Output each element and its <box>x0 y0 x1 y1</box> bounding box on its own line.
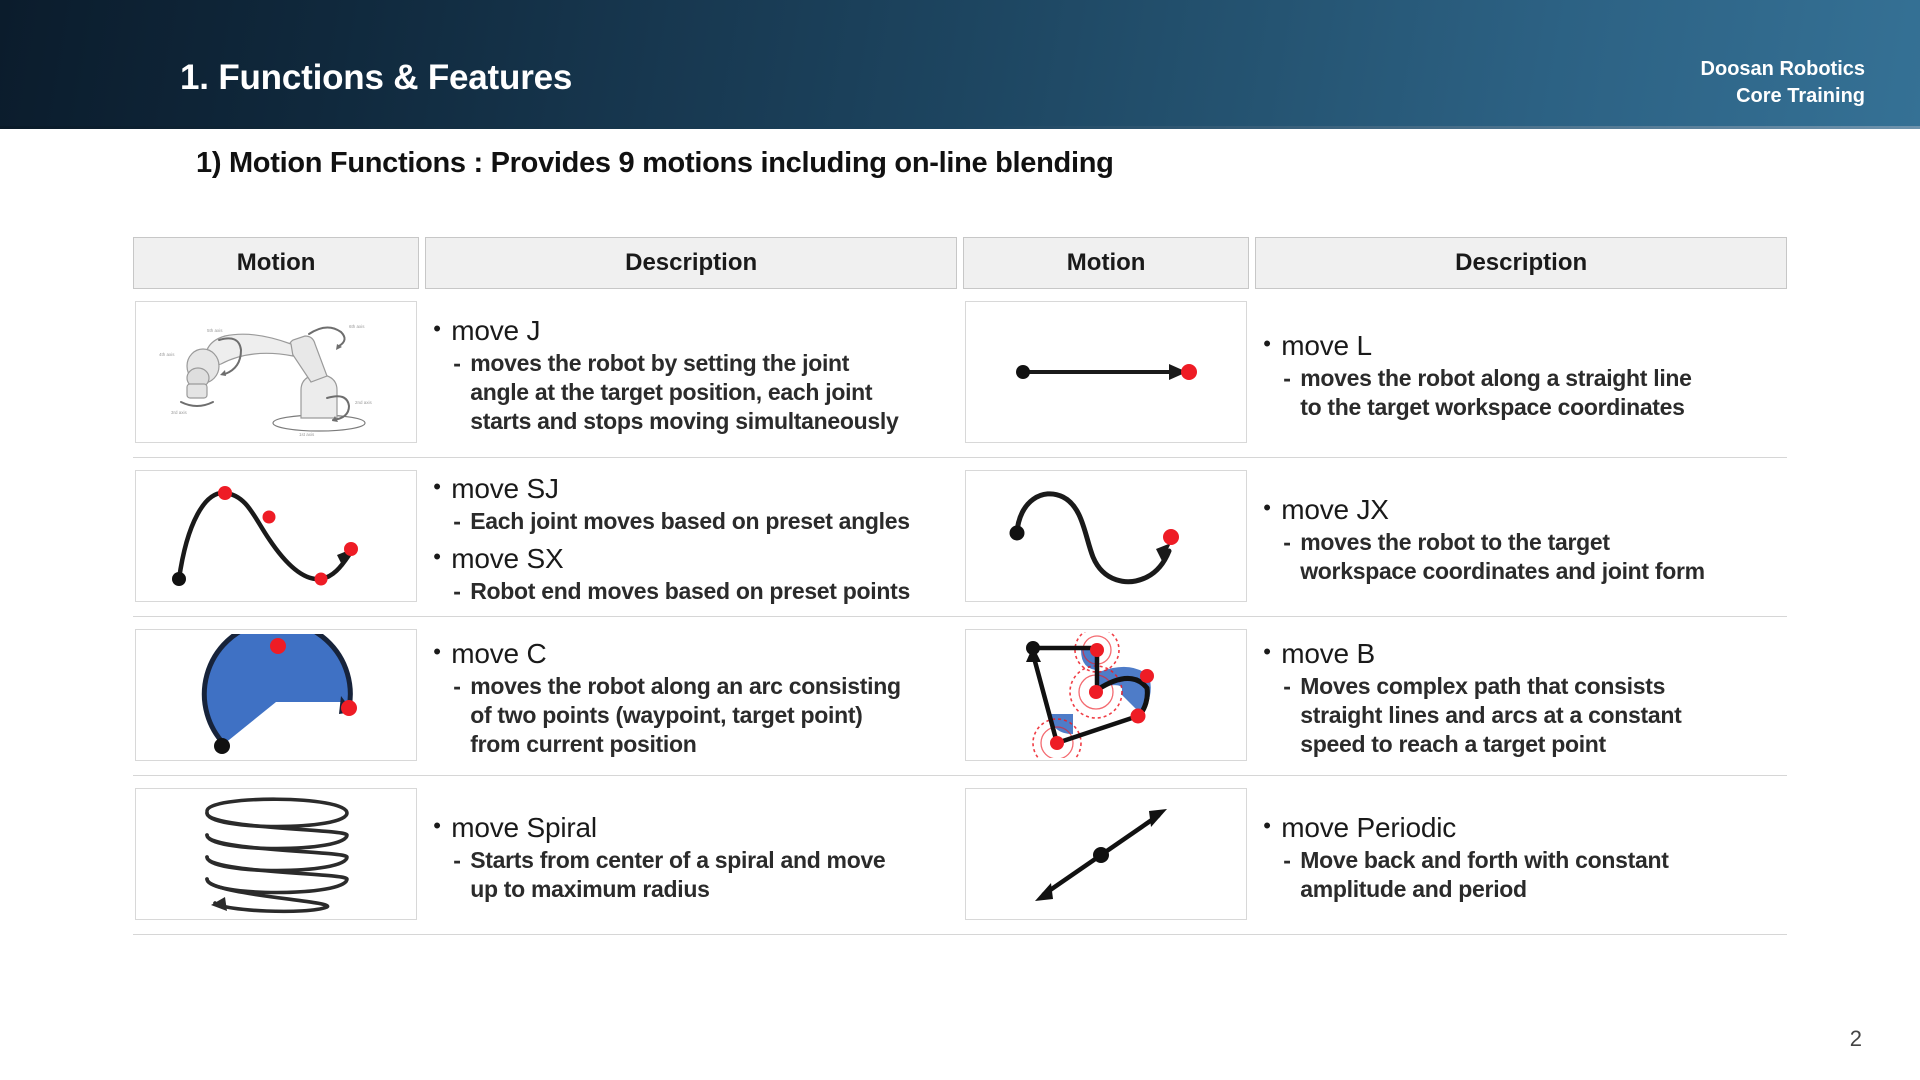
detail-line: moves the robot by setting the joint <box>470 349 898 378</box>
motion-name: move SJ <box>451 472 559 505</box>
dash-icon: - <box>1283 528 1300 557</box>
bullet-icon: • <box>1263 811 1281 841</box>
brand-line-1: Doosan Robotics <box>1701 56 1865 83</box>
description-cell: • move SJ - Each joint moves based on pr… <box>425 458 957 616</box>
description-cell: • move L - moves the robot along a strai… <box>1255 289 1787 457</box>
motion-name: move JX <box>1281 493 1389 526</box>
table-row: 6th axis 5th axis 4th axis 3rd axis 2nd … <box>133 289 1787 458</box>
motion-detail: - moves the robot along a straight line … <box>1283 364 1781 422</box>
motion-name: move Spiral <box>451 811 597 844</box>
detail-line: workspace coordinates and joint form <box>1300 557 1705 586</box>
motion-detail: - Move back and forth with constant ampl… <box>1283 846 1781 904</box>
detail-line: straight lines and arcs at a constant <box>1300 701 1681 730</box>
circular-arc-sector-diagram <box>135 629 417 761</box>
motion-title: • move L <box>1263 329 1781 362</box>
header-underline <box>0 126 1920 129</box>
motion-name: move Periodic <box>1281 811 1456 844</box>
motion-figure-cell <box>133 458 419 616</box>
bullet-icon: • <box>433 472 451 502</box>
motion-detail: - moves the robot by setting the joint a… <box>453 349 951 436</box>
detail-line: moves the robot along a straight line <box>1300 364 1691 393</box>
blended-path-lines-arcs-diagram <box>965 629 1247 761</box>
detail-line: up to maximum radius <box>470 875 885 904</box>
robot-arm-joint-axes-diagram: 6th axis 5th axis 4th axis 3rd axis 2nd … <box>135 301 417 443</box>
column-header-description-right: Description <box>1255 237 1787 289</box>
bullet-icon: • <box>433 314 451 344</box>
bullet-icon: • <box>433 637 451 667</box>
description-cell: • move JX - moves the robot to the targe… <box>1255 458 1787 616</box>
motion-figure-cell: 6th axis 5th axis 4th axis 3rd axis 2nd … <box>133 289 419 457</box>
table-row: • move Spiral - Starts from center of a … <box>133 776 1787 935</box>
motion-detail: - moves the robot to the target workspac… <box>1283 528 1781 586</box>
bullet-icon: • <box>1263 493 1281 523</box>
detail-line: starts and stops moving simultaneously <box>470 407 898 436</box>
dash-icon: - <box>453 577 470 606</box>
detail-line: of two points (waypoint, target point) <box>470 701 901 730</box>
table-row: • move SJ - Each joint moves based on pr… <box>133 458 1787 617</box>
dash-icon: - <box>453 846 470 875</box>
detail-line: angle at the target position, each joint <box>470 378 898 407</box>
motion-title: • move SX <box>433 542 951 575</box>
motion-figure-cell <box>963 617 1249 775</box>
bullet-icon: • <box>433 811 451 841</box>
svg-text:4th axis: 4th axis <box>159 352 175 357</box>
svg-text:5th axis: 5th axis <box>207 328 223 333</box>
slide-header: 1. Functions & Features Doosan Robotics … <box>0 0 1920 126</box>
detail-line: Starts from center of a spiral and move <box>470 846 885 875</box>
motion-title: • move C <box>433 637 951 670</box>
brand-block: Doosan Robotics Core Training <box>1701 56 1865 110</box>
detail-line: from current position <box>470 730 901 759</box>
brand-line-2: Core Training <box>1701 83 1865 110</box>
detail-line: speed to reach a target point <box>1300 730 1681 759</box>
s-curve-arrow-diagram <box>965 470 1247 602</box>
spline-curve-waypoints-diagram <box>135 470 417 602</box>
helix-spiral-diagram <box>135 788 417 920</box>
description-cell: • move B - Moves complex path that consi… <box>1255 617 1787 775</box>
motion-figure-cell <box>963 289 1249 457</box>
dash-icon: - <box>1283 846 1300 875</box>
dash-icon: - <box>1283 672 1300 701</box>
detail-line: moves the robot along an arc consisting <box>470 672 901 701</box>
motion-detail: - Robot end moves based on preset points <box>453 577 951 606</box>
svg-text:2nd axis: 2nd axis <box>355 400 373 405</box>
motion-name: move B <box>1281 637 1375 670</box>
table-header-row: Motion Description Motion Description <box>133 237 1787 289</box>
motion-table: Motion Description Motion Description <box>133 237 1787 935</box>
dash-icon: - <box>1283 364 1300 393</box>
dash-icon: - <box>453 672 470 701</box>
detail-line: to the target workspace coordinates <box>1300 393 1691 422</box>
bullet-icon: • <box>433 542 451 572</box>
dash-icon: - <box>453 507 470 536</box>
description-cell: • move C - moves the robot along an arc … <box>425 617 957 775</box>
description-cell: • move Spiral - Starts from center of a … <box>425 776 957 934</box>
table-row: • move C - moves the robot along an arc … <box>133 617 1787 776</box>
section-subtitle: 1) Motion Functions : Provides 9 motions… <box>196 147 1114 180</box>
double-headed-arrow-diagram <box>965 788 1247 920</box>
detail-line: Move back and forth with constant <box>1300 846 1668 875</box>
straight-line-arrow-diagram <box>965 301 1247 443</box>
detail-line: Robot end moves based on preset points <box>470 577 910 606</box>
svg-text:6th axis: 6th axis <box>349 324 365 329</box>
page-number: 2 <box>1850 1026 1862 1052</box>
motion-name: move SX <box>451 542 563 575</box>
motion-name: move J <box>451 314 540 347</box>
svg-text:1st axis: 1st axis <box>299 432 315 437</box>
slide: 1. Functions & Features Doosan Robotics … <box>0 0 1920 1080</box>
motion-title: • move SJ <box>433 472 951 505</box>
motion-name: move L <box>1281 329 1372 362</box>
motion-name: move C <box>451 637 546 670</box>
motion-detail: - moves the robot along an arc consistin… <box>453 672 951 759</box>
column-header-motion-right: Motion <box>963 237 1249 289</box>
motion-title: • move Periodic <box>1263 811 1781 844</box>
motion-title: • move J <box>433 314 951 347</box>
motion-detail: - Each joint moves based on preset angle… <box>453 507 951 536</box>
bullet-icon: • <box>1263 329 1281 359</box>
motion-title: • move B <box>1263 637 1781 670</box>
motion-title: • move Spiral <box>433 811 951 844</box>
description-cell: • move J - moves the robot by setting th… <box>425 289 957 457</box>
svg-text:3rd axis: 3rd axis <box>171 410 188 415</box>
dash-icon: - <box>453 349 470 378</box>
bullet-icon: • <box>1263 637 1281 667</box>
detail-line: moves the robot to the target <box>1300 528 1705 557</box>
motion-detail: - Starts from center of a spiral and mov… <box>453 846 951 904</box>
motion-figure-cell <box>133 776 419 934</box>
motion-figure-cell <box>963 776 1249 934</box>
page-title: 1. Functions & Features <box>180 58 572 98</box>
motion-figure-cell <box>133 617 419 775</box>
column-header-motion-left: Motion <box>133 237 419 289</box>
detail-line: Each joint moves based on preset angles <box>470 507 910 536</box>
detail-line: amplitude and period <box>1300 875 1668 904</box>
motion-figure-cell <box>963 458 1249 616</box>
motion-title: • move JX <box>1263 493 1781 526</box>
description-cell: • move Periodic - Move back and forth wi… <box>1255 776 1787 934</box>
motion-detail: - Moves complex path that consists strai… <box>1283 672 1781 759</box>
detail-line: Moves complex path that consists <box>1300 672 1681 701</box>
column-header-description-left: Description <box>425 237 957 289</box>
